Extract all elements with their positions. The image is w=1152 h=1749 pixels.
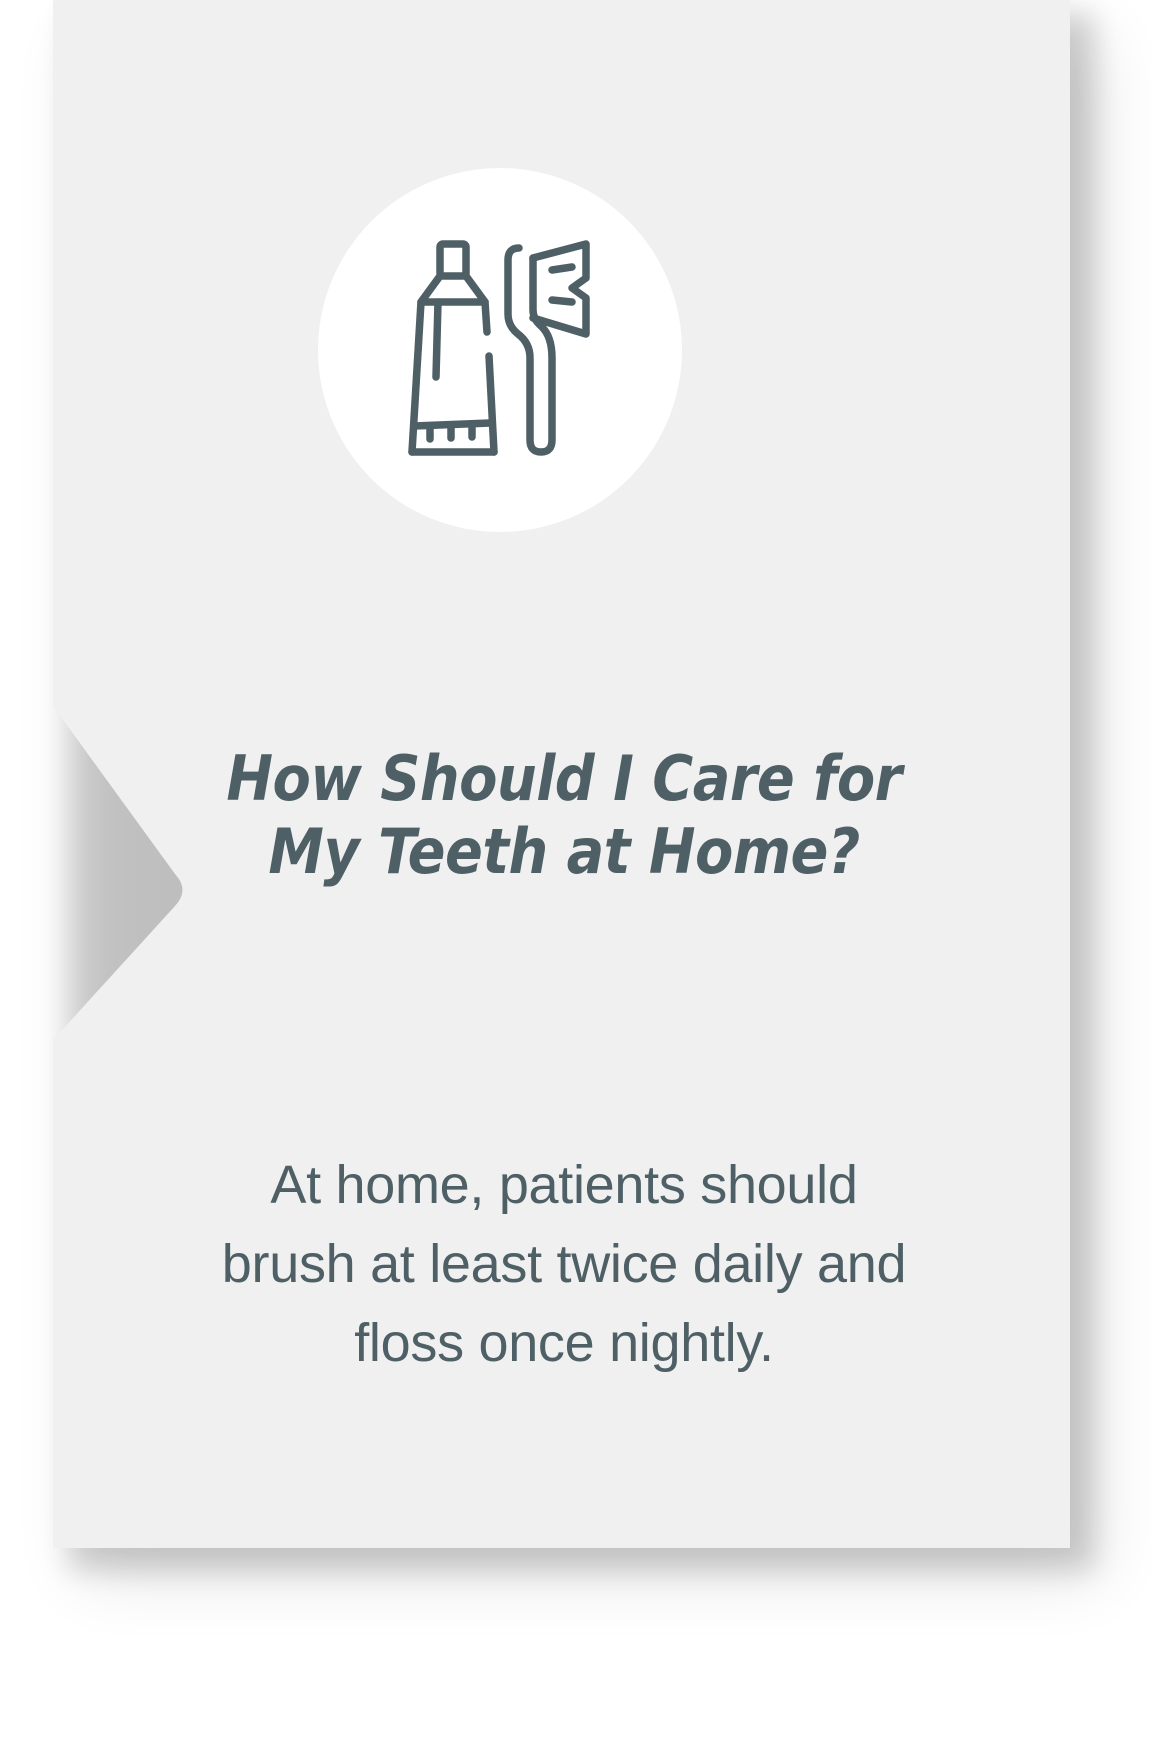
heading-line-1: How Should I Care for: [123, 742, 1005, 815]
card-body: At home, patients should brush at least …: [123, 1146, 1005, 1382]
body-line-1: At home, patients should: [123, 1146, 1005, 1225]
heading-line-2: My Teeth at Home?: [123, 815, 1005, 888]
card-content: How Should I Care for My Teeth at Home? …: [53, 0, 1075, 1548]
icon-disc: [318, 168, 682, 532]
body-line-2: brush at least twice daily and: [123, 1225, 1005, 1304]
body-line-3: floss once nightly.: [123, 1304, 1005, 1383]
toothpaste-and-toothbrush-icon: [400, 230, 600, 470]
faq-card-screenshot: How Should I Care for My Teeth at Home? …: [0, 0, 1152, 1749]
card-heading: How Should I Care for My Teeth at Home?: [123, 742, 1005, 888]
